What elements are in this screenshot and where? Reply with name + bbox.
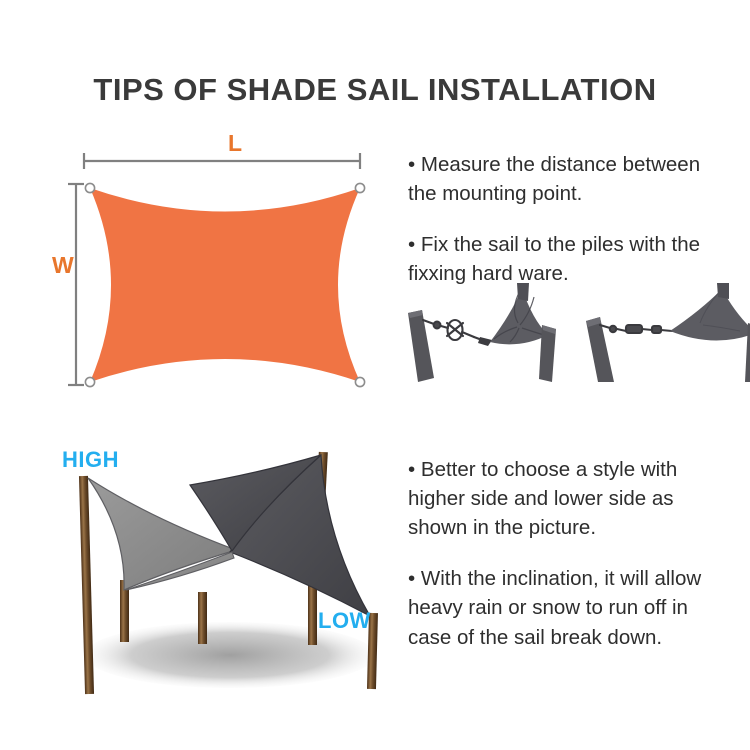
page-title: TIPS OF SHADE SAIL INSTALLATION — [0, 72, 750, 108]
tip-choose-style-high-low: • Better to choose a style with higher s… — [408, 455, 750, 542]
sail-grommet-top-left — [85, 183, 94, 192]
orange-sail-shape — [90, 188, 360, 382]
mounting-pole-left — [408, 310, 434, 382]
bullet-dot: • — [408, 458, 415, 481]
high-side-label: HIGH — [62, 447, 119, 473]
canopy-svg — [40, 440, 420, 700]
tip-text: Measure the distance between the mountin… — [408, 153, 700, 205]
tip-inclination-runoff: • With the inclination, it will allow he… — [408, 564, 750, 651]
width-dimension-line — [68, 184, 84, 385]
crossed-sails-canopy-diagram: HIGH LOW — [40, 440, 420, 700]
support-pole-front-left — [198, 592, 207, 644]
length-dimension-line — [84, 153, 360, 169]
hardware-illustration-left — [408, 283, 556, 382]
bullet-dot: • — [408, 567, 415, 590]
sail-diagram-svg — [60, 140, 410, 405]
turnbuckle-hardware-left — [423, 320, 482, 340]
mounting-pole-right-rear — [717, 283, 729, 299]
tip-measure-distance: • Measure the distance between the mount… — [408, 150, 750, 208]
sail-grommet-bottom-right — [355, 377, 364, 386]
triangular-sail-right — [670, 289, 750, 341]
hardware-illustration-right — [586, 283, 750, 382]
tip-text: Better to choose a style with higher sid… — [408, 458, 677, 539]
width-dimension-label: W — [52, 252, 74, 279]
infographic-page: TIPS OF SHADE SAIL INSTALLATION L W — [0, 0, 750, 750]
bottom-tips-text-block: • Better to choose a style with higher s… — [408, 455, 750, 674]
sail-corner-tab-left — [478, 337, 492, 346]
low-side-label: LOW — [318, 608, 371, 634]
fixing-hardware-illustrations — [400, 283, 750, 383]
bullet-dot: • — [408, 153, 415, 176]
hardware-svg — [400, 283, 750, 383]
tip-fix-sail-to-piles: • Fix the sail to the piles with the fix… — [408, 230, 750, 288]
rectangular-sail-dimension-diagram: L W — [60, 140, 410, 405]
tip-text: With the inclination, it will allow heav… — [408, 567, 701, 648]
tip-text: Fix the sail to the piles with the fixxi… — [408, 233, 700, 285]
turnbuckle-hardware-right — [600, 325, 672, 333]
sail-grommet-top-right — [355, 183, 364, 192]
support-pole-high-left — [79, 476, 94, 694]
mounting-pole-left-right — [539, 325, 556, 382]
sail-grommet-bottom-left — [85, 377, 94, 386]
length-dimension-label: L — [228, 130, 242, 157]
bullet-dot: • — [408, 233, 415, 256]
mounting-pole-left-rear — [517, 283, 529, 301]
